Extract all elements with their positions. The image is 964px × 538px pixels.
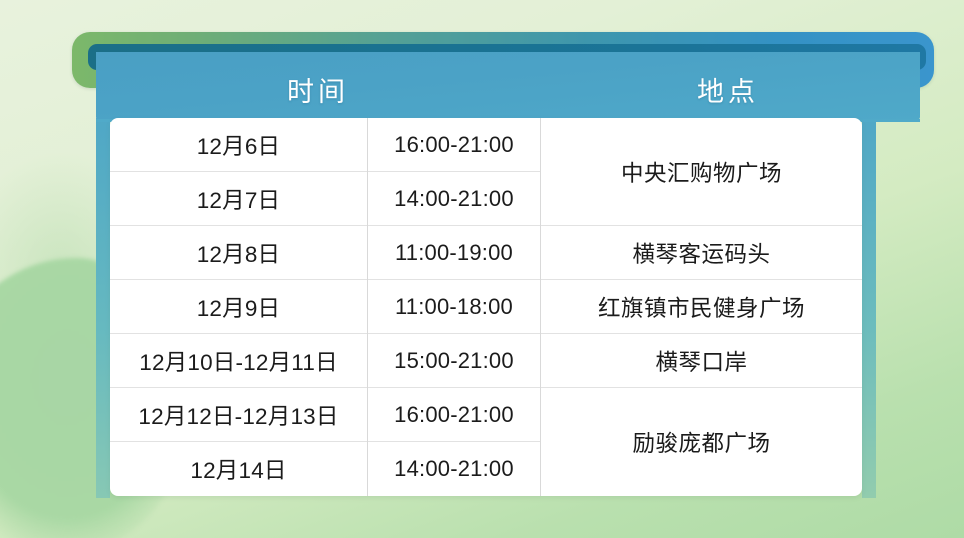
table-cell-place: 励骏庞都广场 <box>541 388 862 496</box>
table-cell-date: 12月6日 <box>110 118 367 172</box>
table-cell-time: 14:00-21:00 <box>368 442 540 496</box>
table-rail-left <box>96 118 110 498</box>
table-cell-place: 横琴口岸 <box>541 334 862 388</box>
table-cell-date: 12月10日-12月11日 <box>110 334 367 388</box>
table-header-panel: 时间 地点 <box>96 52 920 120</box>
table-cell-time: 11:00-19:00 <box>368 226 540 280</box>
table-cell-date: 12月7日 <box>110 172 367 226</box>
column-place: 中央汇购物广场 横琴客运码头 红旗镇市民健身广场 横琴口岸 励骏庞都广场 <box>540 118 862 496</box>
table-cell-date: 12月9日 <box>110 280 367 334</box>
table-cell-date: 12月12日-12月13日 <box>110 388 367 442</box>
table-cell-time: 11:00-18:00 <box>368 280 540 334</box>
schedule-table: 12月6日 12月7日 12月8日 12月9日 12月10日-12月11日 12… <box>110 118 862 496</box>
table-rail-right <box>862 118 876 498</box>
column-time: 16:00-21:00 14:00-21:00 11:00-19:00 11:0… <box>367 118 540 496</box>
table-cell-date: 12月14日 <box>110 442 367 496</box>
table-cell-place: 中央汇购物广场 <box>541 118 862 226</box>
table-header-row: 时间 地点 <box>96 52 920 120</box>
table-cell-time: 16:00-21:00 <box>368 388 540 442</box>
table-cell-time: 16:00-21:00 <box>368 118 540 172</box>
column-header-place: 地点 <box>540 70 920 120</box>
column-header-time: 时间 <box>96 70 540 120</box>
table-cell-time: 14:00-21:00 <box>368 172 540 226</box>
table-cell-date: 12月8日 <box>110 226 367 280</box>
table-cell-place: 红旗镇市民健身广场 <box>541 280 862 334</box>
column-date: 12月6日 12月7日 12月8日 12月9日 12月10日-12月11日 12… <box>110 118 367 496</box>
table-cell-time: 15:00-21:00 <box>368 334 540 388</box>
table-cell-place: 横琴客运码头 <box>541 226 862 280</box>
